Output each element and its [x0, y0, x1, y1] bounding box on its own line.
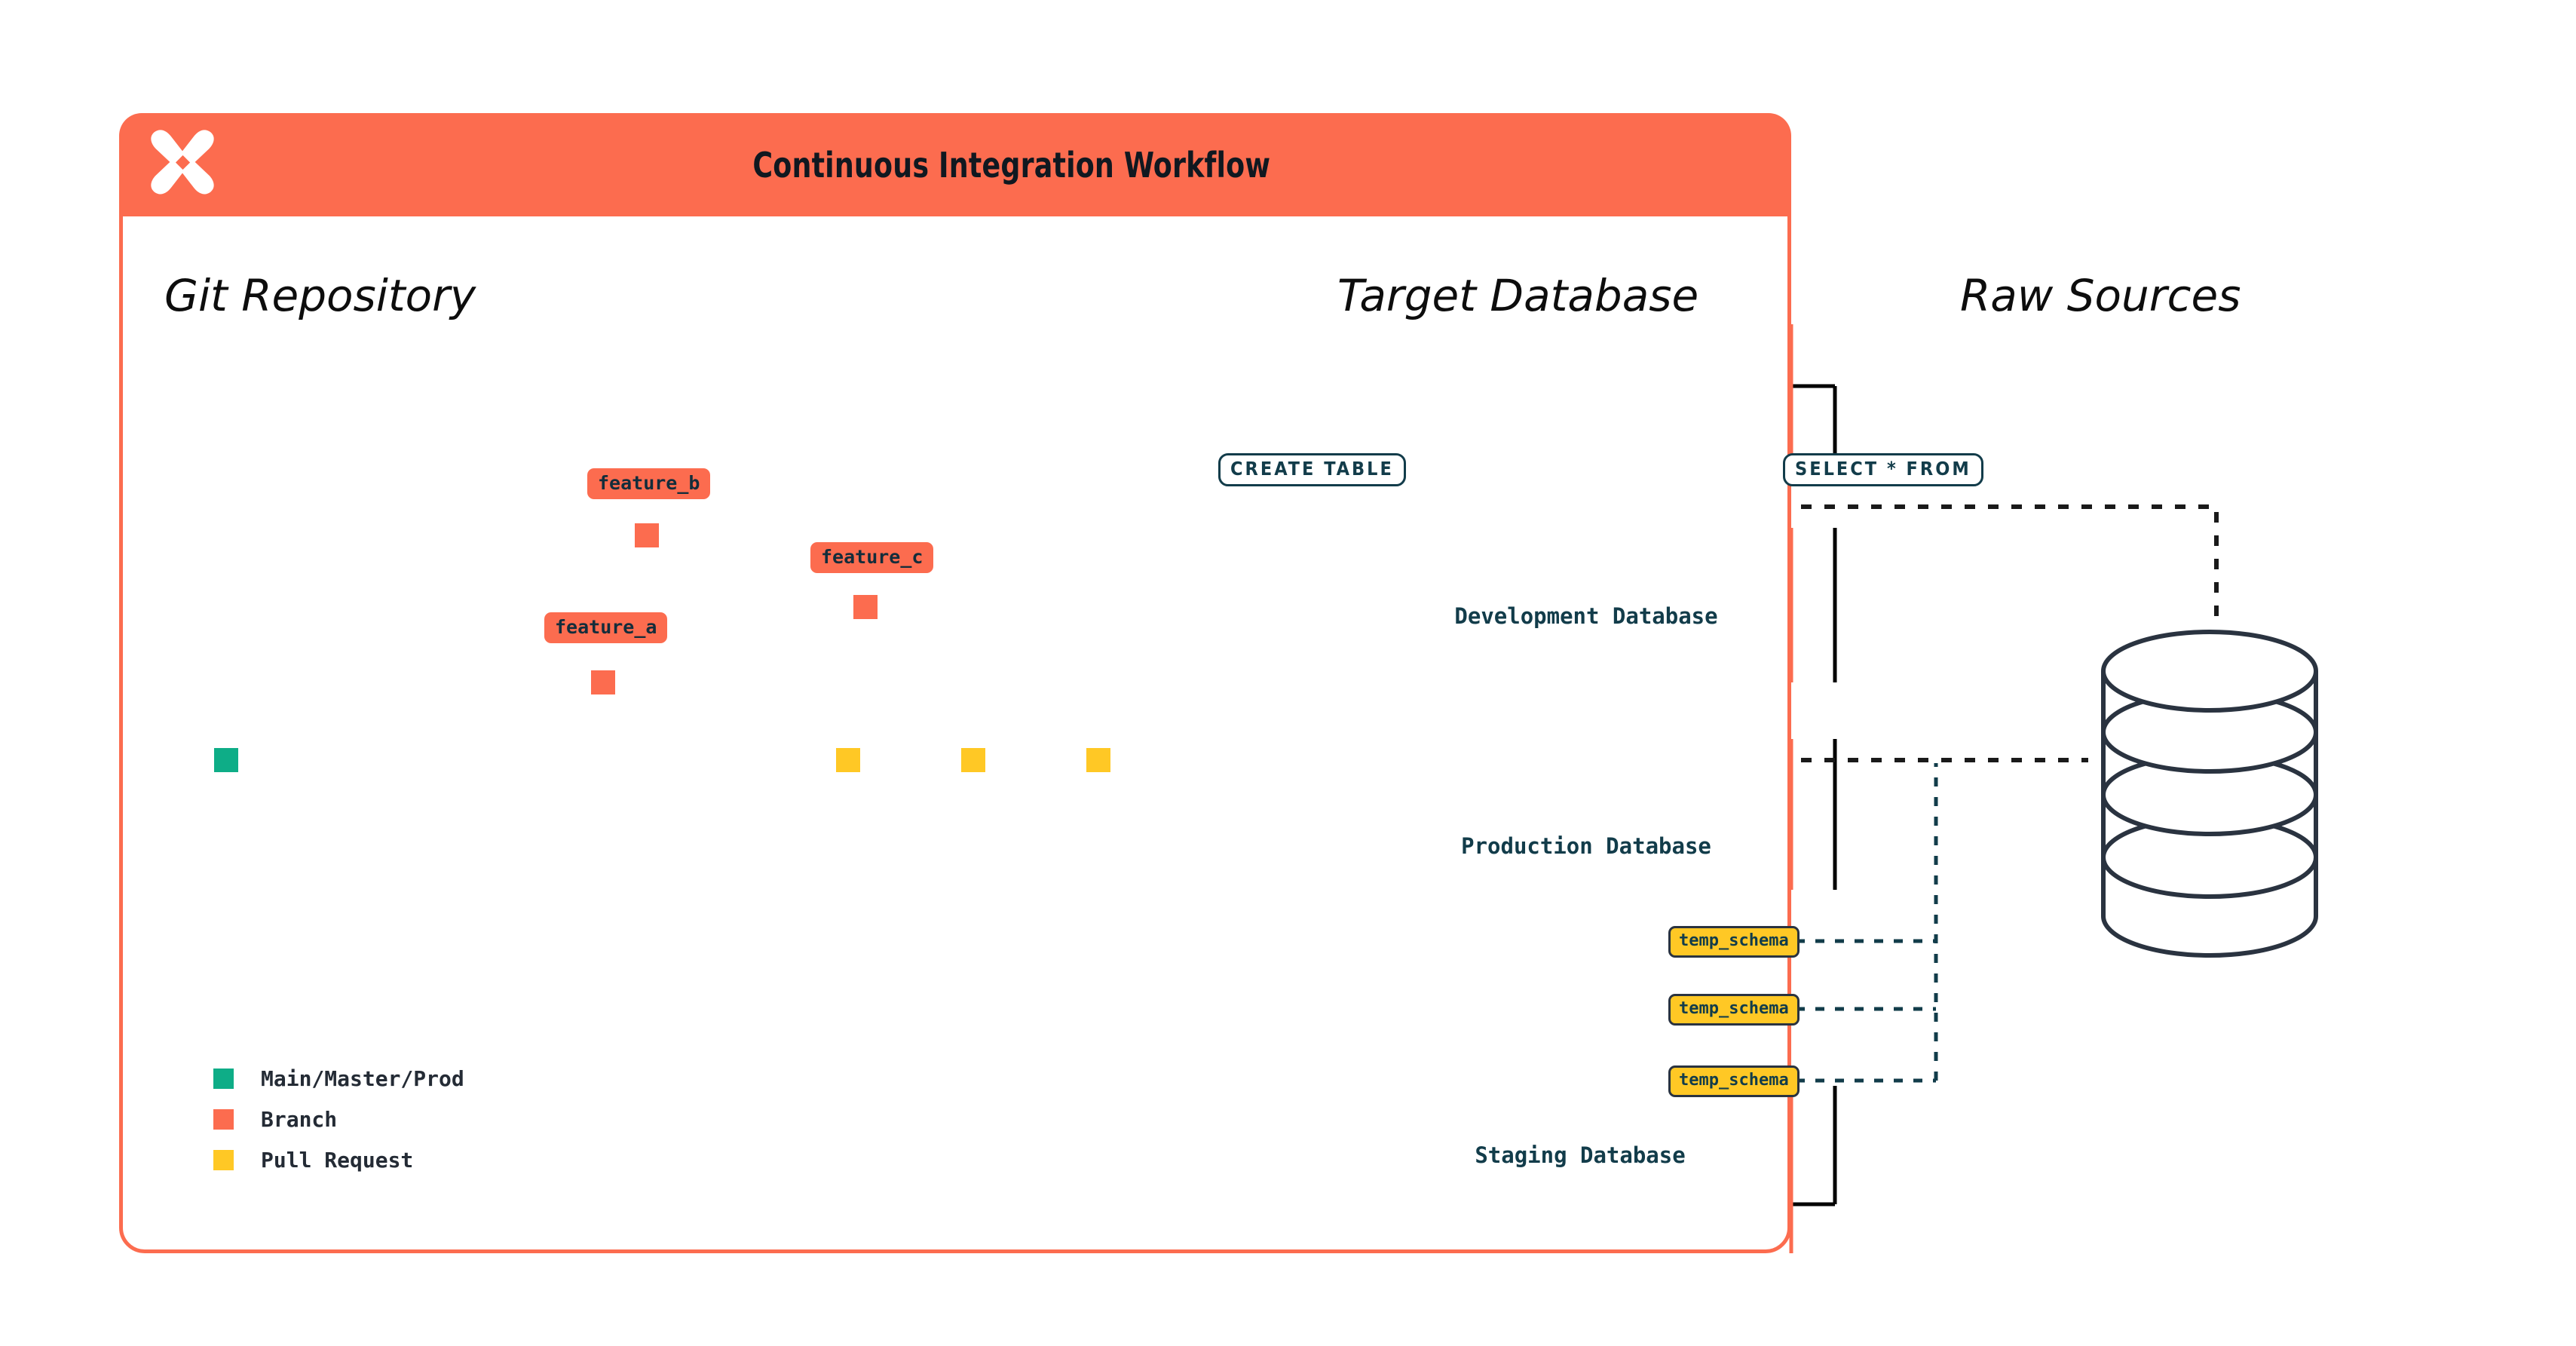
schema-label-3[interactable]: temp_schema	[1668, 1065, 1800, 1097]
commit-node-feature-b[interactable]	[635, 523, 659, 547]
schema-label-2[interactable]: temp_schema	[1668, 994, 1800, 1026]
db-caption-development: Development Database	[1454, 603, 1717, 629]
section-title-raw-sources: Raw Sources	[1960, 270, 2241, 321]
annotation-create-table: CREATE TABLE	[1218, 453, 1406, 486]
pull-request-node-3[interactable]	[1086, 748, 1110, 772]
legend-label-branch: Branch	[261, 1107, 337, 1132]
legend-label-pull-request: Pull Request	[261, 1148, 413, 1173]
annotation-select-star-from: SELECT * FROM	[1783, 453, 1983, 486]
db-caption-production: Production Database	[1461, 833, 1711, 859]
legend-label-main: Main/Master/Prod	[261, 1066, 464, 1091]
diagram-canvas: Continuous Integration Workflow Git Repo…	[0, 0, 2576, 1346]
raw-sources-panel	[1962, 387, 2451, 1199]
commit-node-feature-c[interactable]	[853, 595, 878, 619]
pull-request-node-1[interactable]	[836, 748, 860, 772]
legend-swatch-main	[213, 1069, 234, 1089]
page-title: Continuous Integration Workflow	[219, 113, 1691, 216]
raw-sources-cylinder	[2103, 632, 2316, 955]
branch-label-feature-a[interactable]: feature_a	[544, 612, 667, 643]
commit-node-main[interactable]	[214, 748, 238, 772]
section-title-target-database: Target Database	[1337, 270, 1698, 321]
legend-swatch-pull-request	[213, 1150, 234, 1170]
pull-request-node-2[interactable]	[961, 748, 985, 772]
branch-label-feature-b[interactable]: feature_b	[587, 468, 710, 499]
branch-label-feature-c[interactable]: feature_c	[810, 542, 933, 573]
legend: Main/Master/Prod Branch Pull Request	[213, 1058, 464, 1180]
card-header-bar: Continuous Integration Workflow	[119, 113, 1791, 216]
legend-swatch-branch	[213, 1109, 234, 1130]
section-title-git-repository: Git Repository	[164, 270, 476, 321]
schema-label-1[interactable]: temp_schema	[1668, 926, 1800, 958]
butterfly-x-logo-icon	[143, 124, 222, 203]
legend-item-branch: Branch	[213, 1099, 464, 1139]
legend-item-pull-request: Pull Request	[213, 1139, 464, 1180]
commit-node-feature-a[interactable]	[591, 670, 615, 694]
legend-item-main: Main/Master/Prod	[213, 1058, 464, 1099]
db-caption-staging: Staging Database	[1475, 1142, 1685, 1168]
